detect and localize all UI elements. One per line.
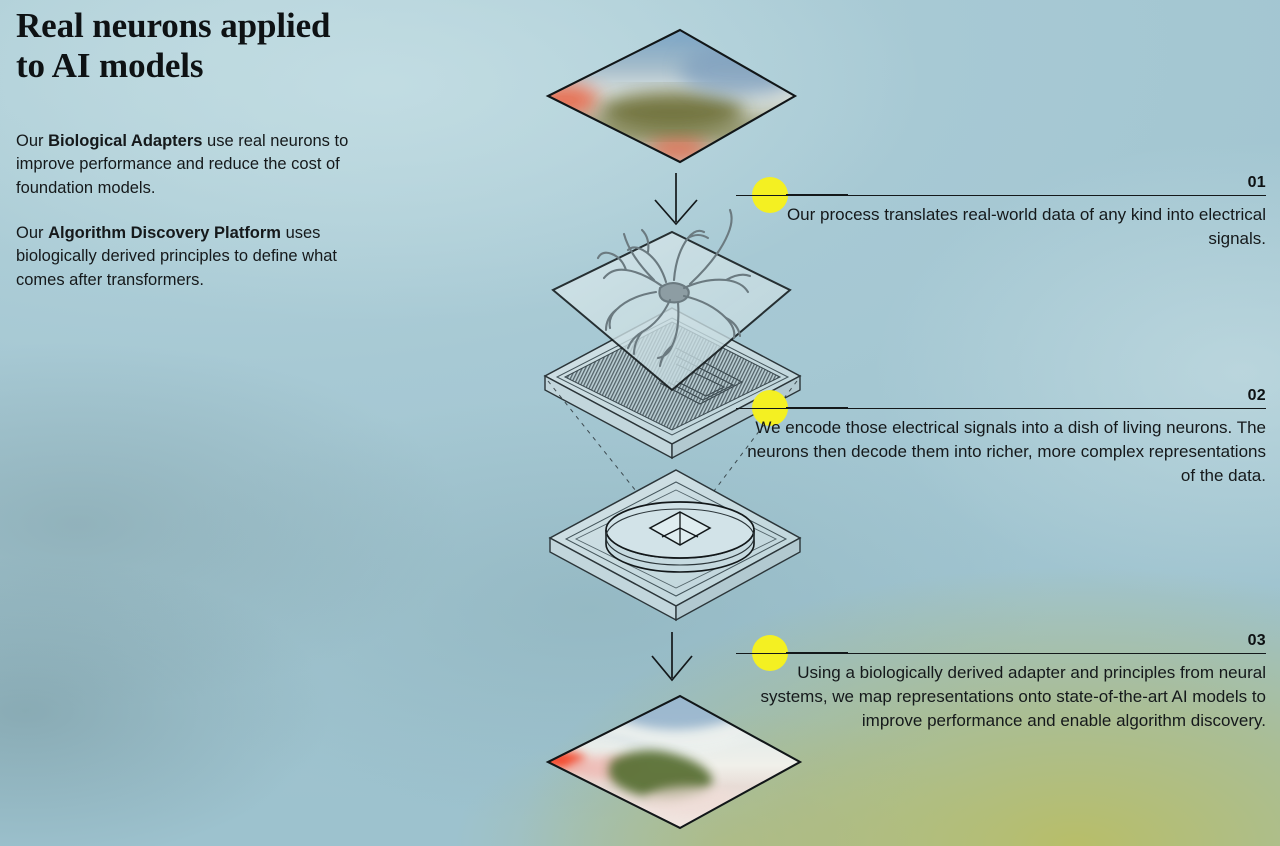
step-rule-01 [736,195,1266,196]
step-text-01: Our process translates real-world data o… [736,203,1266,251]
step-number-01: 01 [1248,174,1266,192]
step-number-03: 03 [1248,632,1266,650]
step-text-02: We encode those electrical signals into … [736,416,1266,488]
petri-dish-icon [606,502,754,572]
down-arrow-top-icon [655,173,697,224]
infographic-page: Real neurons applied to AI models Our Bi… [0,0,1280,846]
step-number-02: 02 [1248,387,1266,405]
step-callout-01: 01 Our process translates real-world dat… [736,170,1266,251]
layer-blurred-landscape-plane [531,22,806,172]
step-rule-02 [736,408,1266,409]
step-header-02: 02 [736,383,1266,409]
layer-petri-dish-plate [550,470,800,620]
down-arrow-bottom-icon [652,632,692,680]
step-callout-02: 02 We encode those electrical signals in… [736,383,1266,488]
step-header-01: 01 [736,170,1266,196]
step-text-03: Using a biologically derived adapter and… [736,661,1266,733]
step-callout-03: 03 Using a biologically derived adapter … [736,628,1266,733]
step-header-03: 03 [736,628,1266,654]
step-rule-03 [736,653,1266,654]
